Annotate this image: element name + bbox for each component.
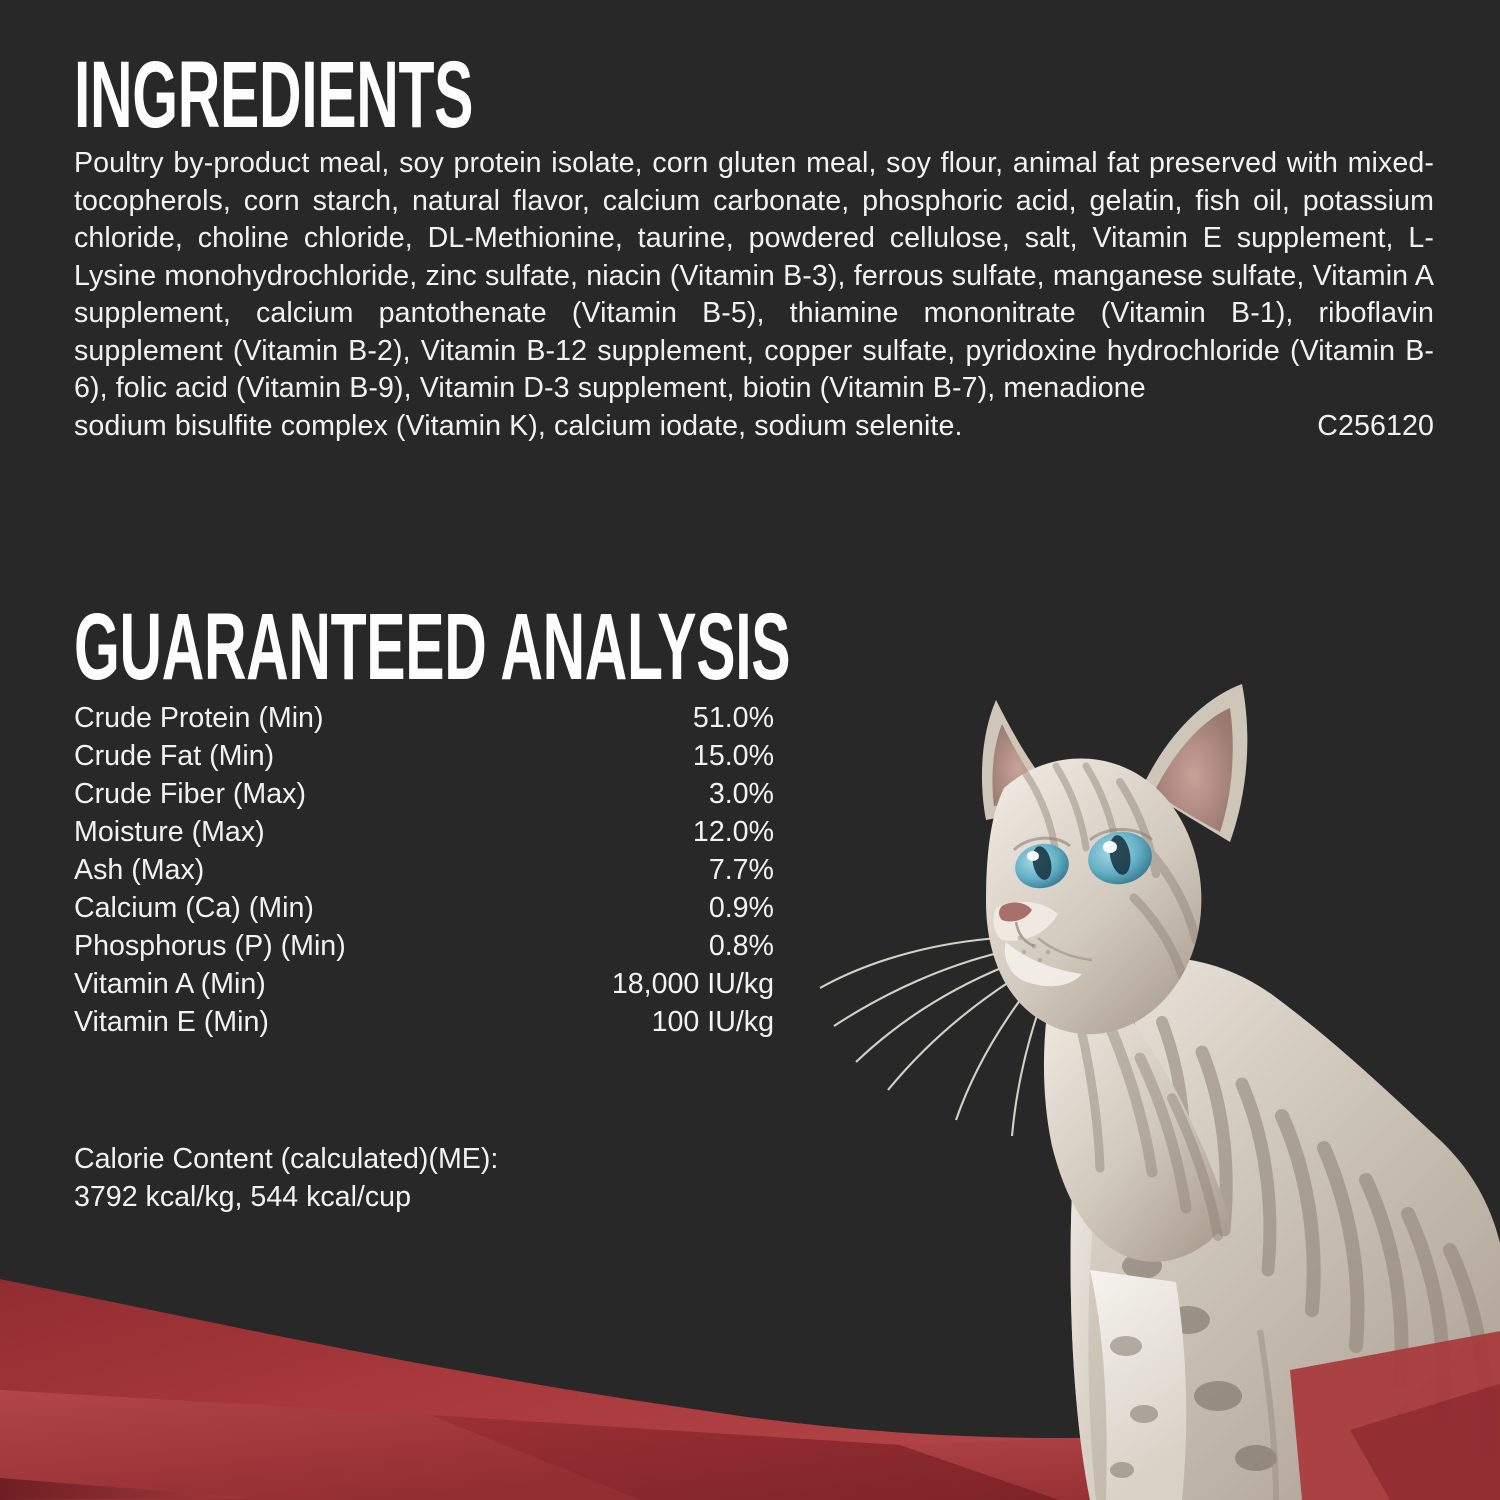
- ingredients-last-line: C256120 sodium bisulfite complex (Vitami…: [74, 408, 1434, 446]
- calorie-content-label: Calorie Content (calculated)(ME):: [74, 1140, 774, 1178]
- ingredients-heading: INGREDIENTS: [74, 52, 917, 139]
- analysis-row: Ash (Max)7.7%: [74, 851, 774, 889]
- analysis-row-label: Crude Protein (Min): [74, 699, 512, 737]
- guaranteed-analysis-heading: GUARANTEED ANALYSIS: [74, 604, 508, 691]
- analysis-row-label: Crude Fat (Min): [74, 737, 512, 775]
- product-label-panel: INGREDIENTS Poultry by-product meal, soy…: [0, 0, 1500, 1500]
- analysis-row-value: 12.0%: [512, 813, 774, 851]
- calorie-content-section: Calorie Content (calculated)(ME): 3792 k…: [74, 1140, 774, 1216]
- analysis-row-label: Phosphorus (P) (Min): [74, 927, 512, 965]
- analysis-row-value: 3.0%: [512, 775, 774, 813]
- analysis-row: Crude Protein (Min)51.0%: [74, 699, 774, 737]
- analysis-row: Calcium (Ca) (Min)0.9%: [74, 889, 774, 927]
- guaranteed-analysis-section: GUARANTEED ANALYSIS Crude Protein (Min)5…: [74, 604, 774, 1041]
- analysis-row-label: Moisture (Max): [74, 813, 512, 851]
- product-code: C256120: [1317, 408, 1434, 446]
- analysis-row-value: 51.0%: [512, 699, 774, 737]
- ingredients-body: Poultry by-product meal, soy protein iso…: [74, 145, 1434, 445]
- analysis-row: Vitamin A (Min)18,000 IU/kg: [74, 965, 774, 1003]
- ingredients-section: INGREDIENTS Poultry by-product meal, soy…: [74, 52, 1434, 445]
- analysis-row: Moisture (Max)12.0%: [74, 813, 774, 851]
- calorie-content-value: 3792 kcal/kg, 544 kcal/cup: [74, 1178, 774, 1216]
- analysis-row-value: 100 IU/kg: [512, 1003, 774, 1041]
- guaranteed-analysis-table: Crude Protein (Min)51.0%Crude Fat (Min)1…: [74, 699, 774, 1041]
- analysis-row-value: 0.9%: [512, 889, 774, 927]
- ingredients-last-line-text: sodium bisulfite complex (Vitamin K), ca…: [74, 410, 963, 442]
- cat-photo: [790, 670, 1500, 1500]
- analysis-row: Crude Fat (Min)15.0%: [74, 737, 774, 775]
- analysis-row-value: 15.0%: [512, 737, 774, 775]
- analysis-row: Vitamin E (Min)100 IU/kg: [74, 1003, 774, 1041]
- analysis-row: Phosphorus (P) (Min)0.8%: [74, 927, 774, 965]
- analysis-row-label: Calcium (Ca) (Min): [74, 889, 512, 927]
- analysis-row-value: 0.8%: [512, 927, 774, 965]
- analysis-row-value: 18,000 IU/kg: [512, 965, 774, 1003]
- analysis-row-label: Ash (Max): [74, 851, 512, 889]
- ingredients-body-text: Poultry by-product meal, soy protein iso…: [74, 147, 1434, 404]
- analysis-row-value: 7.7%: [512, 851, 774, 889]
- analysis-row-label: Vitamin E (Min): [74, 1003, 512, 1041]
- analysis-row: Crude Fiber (Max)3.0%: [74, 775, 774, 813]
- analysis-row-label: Vitamin A (Min): [74, 965, 512, 1003]
- analysis-row-label: Crude Fiber (Max): [74, 775, 512, 813]
